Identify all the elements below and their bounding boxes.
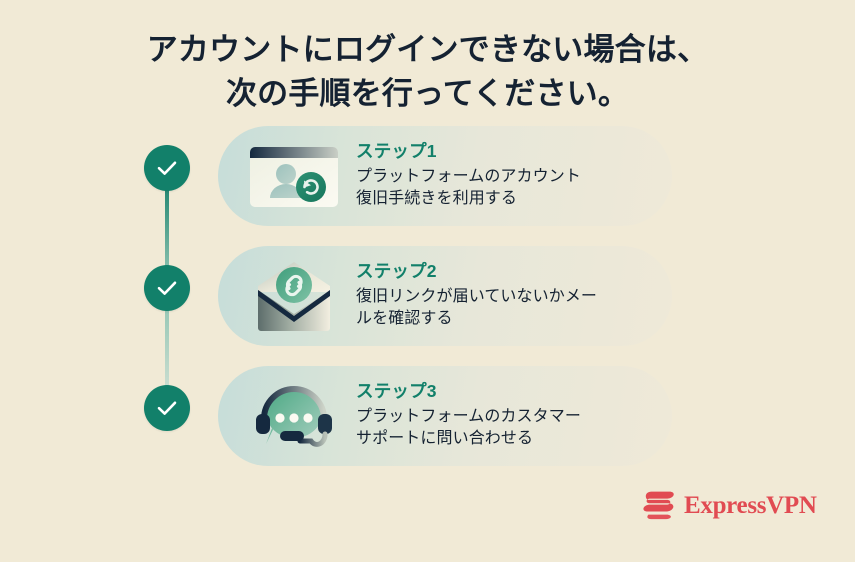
expressvpn-mark-icon	[642, 490, 676, 520]
step-3-label: ステップ3	[356, 381, 656, 403]
id-card-recovery-icon	[242, 132, 346, 220]
timeline-node-step-1	[144, 145, 190, 191]
timeline-node-step-3	[144, 385, 190, 431]
step-3-description: プラットフォームのカスタマー サポートに問い合わせる	[356, 406, 656, 451]
step-card-2-text: ステップ2 復旧リンクが届いていないかメー ルを確認する	[356, 261, 672, 331]
envelope-link-icon	[242, 252, 346, 340]
step-1-description: プラットフォームのアカウント 復旧手続きを利用する	[356, 166, 656, 211]
step-card-1-text: ステップ1 プラットフォームのアカウント 復旧手続きを利用する	[356, 141, 672, 211]
step-2-description-line-2: ルを確認する	[356, 308, 656, 331]
steps-timeline	[144, 145, 190, 445]
check-icon	[155, 157, 179, 179]
expressvpn-wordmark: ExpressVPN	[684, 493, 817, 518]
step-1-label: ステップ1	[356, 141, 656, 163]
step-card-1: ステップ1 プラットフォームのアカウント 復旧手続きを利用する	[218, 126, 672, 226]
step-card-2: ステップ2 復旧リンクが届いていないかメー ルを確認する	[218, 246, 672, 346]
page-title-line-1: アカウントにログインできない場合は、	[0, 28, 855, 72]
step-3-description-line-2: サポートに問い合わせる	[356, 428, 656, 451]
page-title: アカウントにログインできない場合は、 次の手順を行ってください。	[0, 28, 855, 116]
step-1-description-line-1: プラットフォームのアカウント	[356, 166, 656, 189]
step-card-3: ステップ3 プラットフォームのカスタマー サポートに問い合わせる	[218, 366, 672, 466]
check-icon	[155, 397, 179, 419]
timeline-node-step-2	[144, 265, 190, 311]
page-title-line-2: 次の手順を行ってください。	[0, 72, 855, 116]
step-2-description-line-1: 復旧リンクが届いていないかメー	[356, 286, 656, 309]
step-card-3-text: ステップ3 プラットフォームのカスタマー サポートに問い合わせる	[356, 381, 672, 451]
check-icon	[155, 277, 179, 299]
infographic-page: アカウントにログインできない場合は、 次の手順を行ってください。	[0, 0, 855, 562]
step-2-label: ステップ2	[356, 261, 656, 283]
step-2-description: 復旧リンクが届いていないかメー ルを確認する	[356, 286, 656, 331]
expressvpn-logo: ExpressVPN	[642, 485, 802, 525]
step-3-description-line-1: プラットフォームのカスタマー	[356, 406, 656, 429]
step-1-description-line-2: 復旧手続きを利用する	[356, 188, 656, 211]
support-headset-icon	[242, 372, 346, 460]
